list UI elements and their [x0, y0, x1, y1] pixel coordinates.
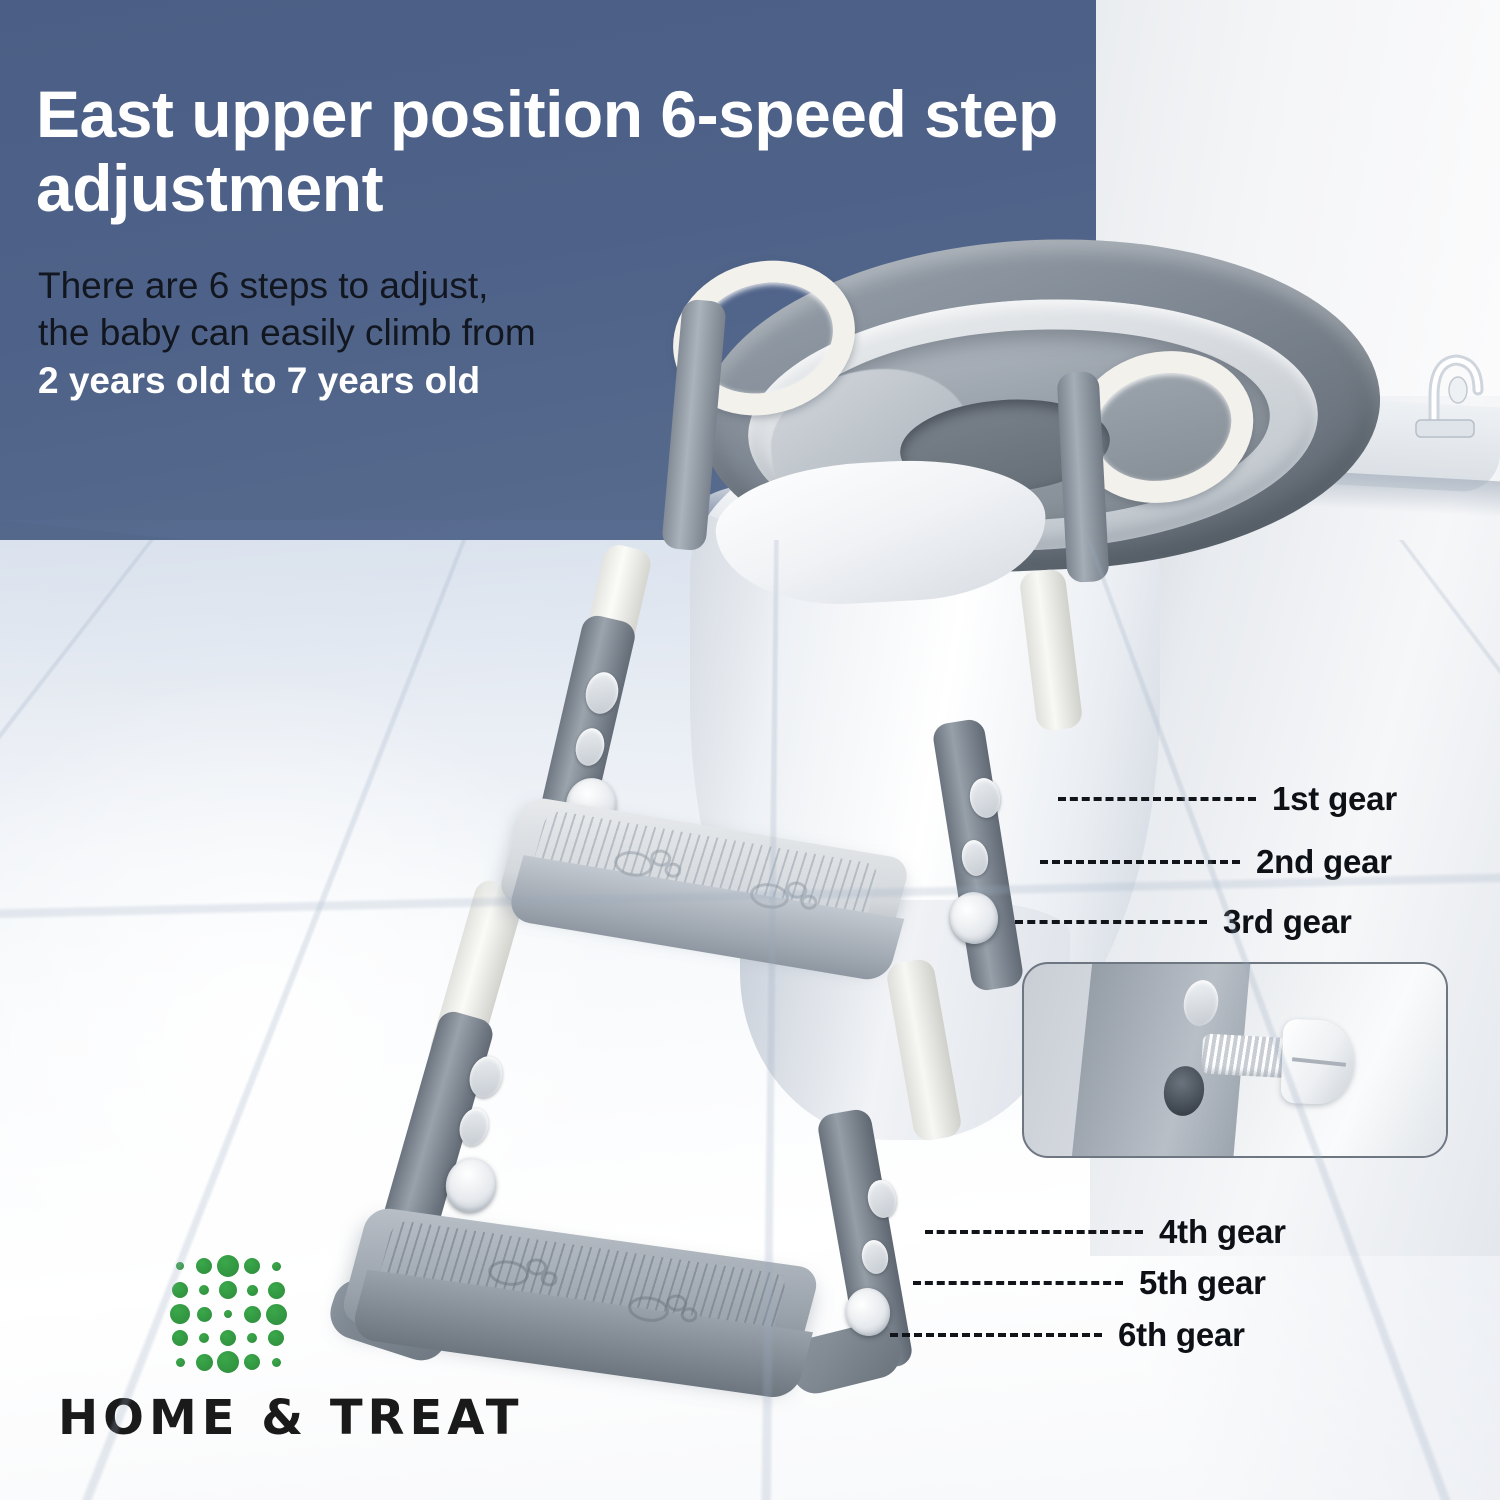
leader-line-gear-2: [1040, 860, 1240, 864]
logo-dot: [196, 1258, 212, 1274]
leader-line-gear-5: [913, 1281, 1123, 1285]
page-subtitle: There are 6 steps to adjust, the baby ca…: [38, 262, 698, 404]
gear-label-2: 2nd gear: [1256, 843, 1392, 881]
adjustment-screw-detail-inset: [1022, 962, 1448, 1158]
gear-label-6: 6th gear: [1118, 1316, 1245, 1354]
leader-line-gear-4: [925, 1230, 1143, 1234]
logo-dot: [268, 1282, 285, 1299]
logo-dot: [170, 1304, 190, 1324]
logo-dot: [244, 1258, 260, 1274]
callout-gear-5: 5th gear: [913, 1264, 1266, 1302]
logo-dot: [268, 1330, 284, 1346]
logo-dot: [247, 1333, 257, 1343]
subtitle-line-1: There are 6 steps to adjust,: [38, 265, 488, 306]
logo-dot: [172, 1330, 188, 1346]
logo-dot: [244, 1306, 261, 1323]
logo-dot: [197, 1307, 212, 1322]
logo-dot: [196, 1354, 213, 1371]
logo-wordmark: HOME & TREAT: [58, 1390, 523, 1446]
logo-dot: [220, 1330, 236, 1346]
callout-gear-3: 3rd gear: [1015, 903, 1352, 941]
logo-dot: [247, 1285, 258, 1296]
logo-dot: [199, 1333, 209, 1343]
logo-dot: [172, 1282, 188, 1298]
subtitle-line-2: the baby can easily climb from: [38, 312, 536, 353]
logo-dot: [176, 1358, 185, 1367]
product-infographic: East upper position 6-speed step adjustm…: [0, 0, 1500, 1500]
page-title: East upper position 6-speed step adjustm…: [36, 78, 1066, 226]
callout-gear-6: 6th gear: [890, 1316, 1245, 1354]
callout-gear-1: 1st gear: [1058, 780, 1397, 818]
logo-dot: [217, 1351, 239, 1373]
logo-dot: [217, 1255, 239, 1277]
logo-dot: [244, 1354, 260, 1370]
gear-label-3: 3rd gear: [1223, 903, 1352, 941]
logo-dot: [272, 1262, 281, 1271]
seat-hinge-bolt-icon: [1404, 350, 1490, 442]
logo-dot: [272, 1358, 281, 1367]
subtitle-emphasis: 2 years old to 7 years old: [38, 357, 698, 404]
gear-label-5: 5th gear: [1139, 1264, 1266, 1302]
gear-label-4: 4th gear: [1159, 1213, 1286, 1251]
leader-line-gear-6: [890, 1333, 1102, 1337]
brand-logo: HOME & TREAT: [58, 1252, 523, 1446]
logo-dot: [219, 1281, 237, 1299]
logo-dot: [176, 1262, 184, 1270]
logo-dot: [266, 1304, 287, 1325]
logo-dot: [224, 1310, 232, 1318]
logo-dot-grid-icon: [166, 1252, 286, 1372]
leader-line-gear-1: [1058, 797, 1256, 801]
callout-gear-2: 2nd gear: [1040, 843, 1392, 881]
leader-line-gear-3: [1015, 920, 1207, 924]
callout-gear-4: 4th gear: [925, 1213, 1286, 1251]
logo-dot: [199, 1285, 209, 1295]
gear-label-1: 1st gear: [1272, 780, 1397, 818]
